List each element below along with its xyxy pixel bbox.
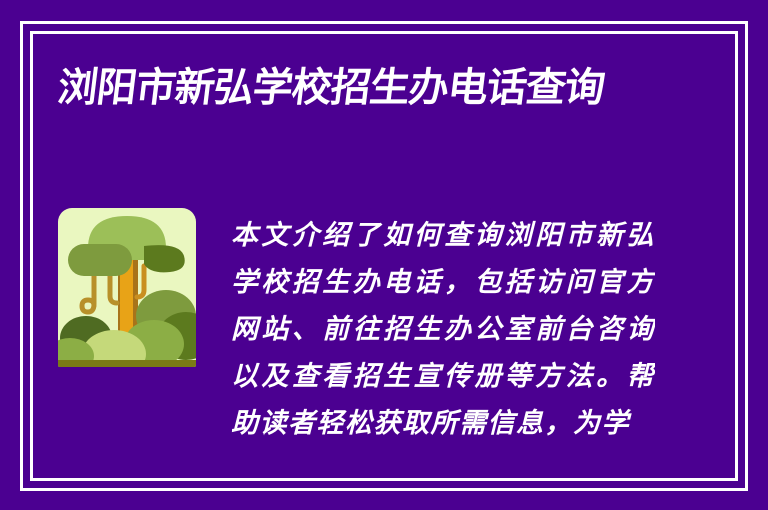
page-title: 浏阳市新弘学校招生办电话查询 <box>55 62 711 114</box>
body-paragraph: 本文介绍了如何查询浏阳市新弘学校招生办电话，包括访问官方网站、前往招生办公室前台… <box>231 212 655 447</box>
tree-icon <box>58 208 196 367</box>
jungle-tree-illustration <box>58 208 196 367</box>
poster-canvas: 浏阳市新弘学校招生办电话查询 <box>0 0 768 510</box>
